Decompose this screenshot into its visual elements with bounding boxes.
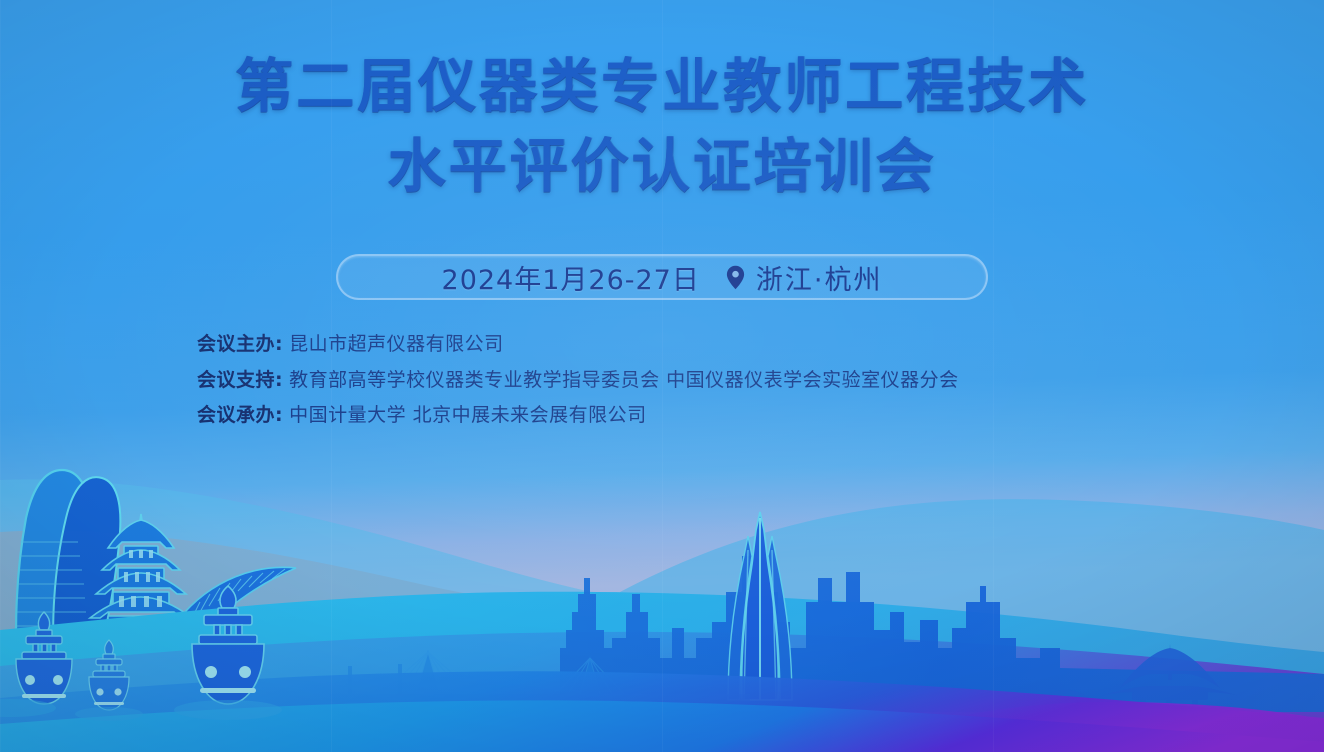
- conference-date: 2024年1月26-27日: [442, 258, 700, 297]
- conference-location: 浙江·杭州: [726, 258, 883, 297]
- organizer-row-support: 会议支持: 教育部高等学校仪器类专业教学指导委员会 中国仪器仪表学会实验室仪器分…: [197, 367, 959, 395]
- organizer-row-undertaker: 会议承办: 中国计量大学 北京中展未来会展有限公司: [197, 402, 959, 430]
- organizer-label-support: 会议支持:: [197, 367, 283, 395]
- location-pin-icon: [726, 265, 745, 290]
- organizer-label-undertaker: 会议承办:: [197, 402, 283, 430]
- organizer-value-host: 昆山市超声仪器有限公司: [289, 331, 504, 359]
- poster-title: 第二届仪器类专业教师工程技术 水平评价认证培训会: [0, 52, 1324, 201]
- organizer-value-undertaker: 中国计量大学 北京中展未来会展有限公司: [289, 402, 647, 430]
- organizer-row-host: 会议主办: 昆山市超声仪器有限公司: [197, 331, 959, 359]
- title-line-2: 水平评价认证培训会: [0, 132, 1324, 200]
- title-line-1: 第二届仪器类专业教师工程技术: [0, 52, 1324, 120]
- poster-text-layer: 第二届仪器类专业教师工程技术 水平评价认证培训会 2024年1月26-27日 浙…: [0, 0, 1324, 752]
- location-text: 浙江·杭州: [756, 258, 883, 297]
- organizer-list: 会议主办: 昆山市超声仪器有限公司 会议支持: 教育部高等学校仪器类专业教学指导…: [197, 331, 959, 430]
- date-location-banner: 2024年1月26-27日 浙江·杭州: [336, 254, 988, 300]
- organizer-value-support: 教育部高等学校仪器类专业教学指导委员会 中国仪器仪表学会实验室仪器分会: [289, 367, 959, 395]
- conference-backdrop-poster: 第二届仪器类专业教师工程技术 水平评价认证培训会 2024年1月26-27日 浙…: [0, 0, 1324, 752]
- organizer-label-host: 会议主办:: [197, 331, 283, 359]
